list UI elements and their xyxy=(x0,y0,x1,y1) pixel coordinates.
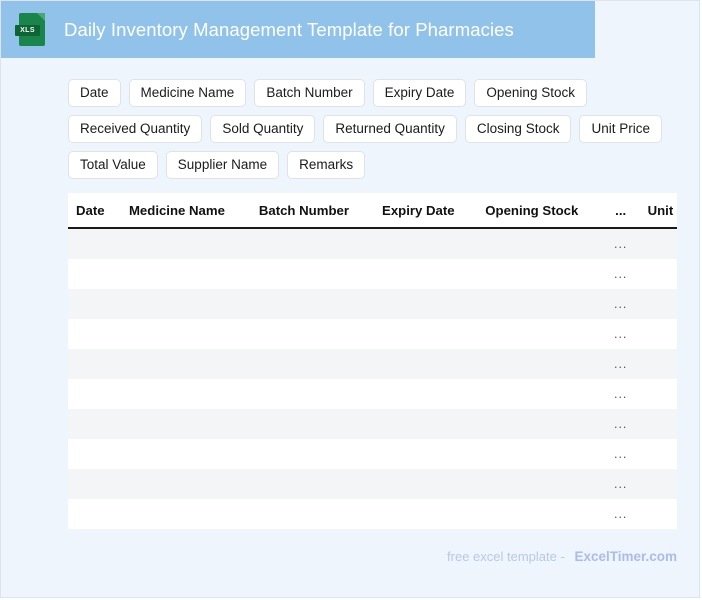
cell-ellipsis: ... xyxy=(603,349,639,379)
table-row[interactable]: ... xyxy=(68,379,677,409)
field-chip-list: Date Medicine Name Batch Number Expiry D… xyxy=(68,79,668,179)
page-header: XLS Daily Inventory Management Template … xyxy=(1,1,595,58)
table-row[interactable]: ... xyxy=(68,439,677,469)
table-row[interactable]: ... xyxy=(68,319,677,349)
table-row[interactable]: ... xyxy=(68,499,677,529)
cell-ellipsis: ... xyxy=(603,469,639,499)
template-page: XLS Daily Inventory Management Template … xyxy=(0,0,700,598)
field-chip-sold-quantity[interactable]: Sold Quantity xyxy=(210,115,315,143)
cell-medicine-name xyxy=(120,439,250,469)
field-chip-opening-stock[interactable]: Opening Stock xyxy=(474,79,587,107)
cell-ellipsis: ... xyxy=(603,379,639,409)
cell-ellipsis: ... xyxy=(603,259,639,289)
cell-batch-number xyxy=(250,259,373,289)
cell-date xyxy=(68,228,120,259)
table-body: ... ... xyxy=(68,228,677,529)
cell-batch-number xyxy=(250,379,373,409)
preview-table: Date Medicine Name Batch Number Expiry D… xyxy=(68,193,677,529)
cell-expiry-date xyxy=(373,409,476,439)
cell-medicine-name xyxy=(120,259,250,289)
field-chip-returned-quantity[interactable]: Returned Quantity xyxy=(323,115,457,143)
cell-batch-number xyxy=(250,469,373,499)
cell-ellipsis: ... xyxy=(603,319,639,349)
cell-ellipsis: ... xyxy=(603,499,639,529)
cell-medicine-name xyxy=(120,349,250,379)
field-chip-batch-number[interactable]: Batch Number xyxy=(254,79,364,107)
table-col-expiry-date[interactable]: Expiry Date xyxy=(373,193,476,228)
table-head: Date Medicine Name Batch Number Expiry D… xyxy=(68,193,677,228)
cell-opening-stock xyxy=(476,499,603,529)
cell-opening-stock xyxy=(476,469,603,499)
field-chip-remarks[interactable]: Remarks xyxy=(287,151,365,179)
cell-date xyxy=(68,259,120,289)
cell-batch-number xyxy=(250,349,373,379)
cell-opening-stock xyxy=(476,379,603,409)
cell-opening-stock xyxy=(476,409,603,439)
table-row[interactable]: ... xyxy=(68,289,677,319)
footer-brand[interactable]: ExcelTimer.com xyxy=(574,549,677,564)
cell-expiry-date xyxy=(373,259,476,289)
cell-expiry-date xyxy=(373,319,476,349)
cell-ellipsis: ... xyxy=(603,409,639,439)
field-chip-date[interactable]: Date xyxy=(68,79,121,107)
table-col-date[interactable]: Date xyxy=(68,193,120,228)
cell-unit-price xyxy=(639,409,677,439)
cell-unit-price xyxy=(639,469,677,499)
table-row[interactable]: ... xyxy=(68,409,677,439)
cell-date xyxy=(68,409,120,439)
footer-credit: free excel template - ExcelTimer.com xyxy=(447,549,677,564)
table-col-medicine-name[interactable]: Medicine Name xyxy=(120,193,250,228)
cell-opening-stock xyxy=(476,259,603,289)
cell-date xyxy=(68,289,120,319)
cell-ellipsis: ... xyxy=(603,439,639,469)
table-col-unit-price[interactable]: Unit Price xyxy=(639,193,677,228)
table-row[interactable]: ... xyxy=(68,469,677,499)
cell-date xyxy=(68,469,120,499)
table-col-batch-number[interactable]: Batch Number xyxy=(250,193,373,228)
field-chip-medicine-name[interactable]: Medicine Name xyxy=(129,79,247,107)
field-chip-closing-stock[interactable]: Closing Stock xyxy=(465,115,572,143)
cell-medicine-name xyxy=(120,499,250,529)
cell-expiry-date xyxy=(373,499,476,529)
cell-medicine-name xyxy=(120,289,250,319)
cell-opening-stock xyxy=(476,349,603,379)
cell-opening-stock xyxy=(476,439,603,469)
cell-ellipsis: ... xyxy=(603,289,639,319)
cell-unit-price xyxy=(639,228,677,259)
preview-table-container: Date Medicine Name Batch Number Expiry D… xyxy=(68,193,677,529)
footer-text: free excel template - xyxy=(447,549,565,564)
table-row[interactable]: ... xyxy=(68,349,677,379)
table-col-ellipsis: ... xyxy=(603,193,639,228)
cell-date xyxy=(68,499,120,529)
cell-batch-number xyxy=(250,409,373,439)
cell-unit-price xyxy=(639,439,677,469)
field-chip-unit-price[interactable]: Unit Price xyxy=(579,115,662,143)
cell-expiry-date xyxy=(373,228,476,259)
cell-date xyxy=(68,319,120,349)
field-chip-received-quantity[interactable]: Received Quantity xyxy=(68,115,202,143)
cell-batch-number xyxy=(250,439,373,469)
cell-expiry-date xyxy=(373,289,476,319)
cell-medicine-name xyxy=(120,228,250,259)
cell-expiry-date xyxy=(373,439,476,469)
cell-unit-price xyxy=(639,379,677,409)
cell-unit-price xyxy=(639,259,677,289)
cell-expiry-date xyxy=(373,379,476,409)
table-col-opening-stock[interactable]: Opening Stock xyxy=(476,193,603,228)
cell-unit-price xyxy=(639,319,677,349)
field-chip-total-value[interactable]: Total Value xyxy=(68,151,158,179)
cell-batch-number xyxy=(250,319,373,349)
cell-date xyxy=(68,379,120,409)
cell-date xyxy=(68,439,120,469)
cell-opening-stock xyxy=(476,228,603,259)
cell-batch-number xyxy=(250,289,373,319)
cell-medicine-name xyxy=(120,319,250,349)
cell-medicine-name xyxy=(120,409,250,439)
field-chip-expiry-date[interactable]: Expiry Date xyxy=(373,79,467,107)
page-title: Daily Inventory Management Template for … xyxy=(64,19,514,41)
cell-expiry-date xyxy=(373,349,476,379)
xls-file-icon: XLS xyxy=(19,13,45,46)
table-header-row: Date Medicine Name Batch Number Expiry D… xyxy=(68,193,677,228)
cell-date xyxy=(68,349,120,379)
cell-expiry-date xyxy=(373,469,476,499)
cell-ellipsis: ... xyxy=(603,228,639,259)
cell-unit-price xyxy=(639,349,677,379)
cell-medicine-name xyxy=(120,379,250,409)
cell-opening-stock xyxy=(476,289,603,319)
cell-unit-price xyxy=(639,289,677,319)
table-row[interactable]: ... xyxy=(68,259,677,289)
table-row[interactable]: ... xyxy=(68,228,677,259)
cell-medicine-name xyxy=(120,469,250,499)
cell-opening-stock xyxy=(476,319,603,349)
xls-icon-label: XLS xyxy=(15,25,40,36)
cell-unit-price xyxy=(639,499,677,529)
cell-batch-number xyxy=(250,228,373,259)
cell-batch-number xyxy=(250,499,373,529)
field-chip-supplier-name[interactable]: Supplier Name xyxy=(166,151,279,179)
